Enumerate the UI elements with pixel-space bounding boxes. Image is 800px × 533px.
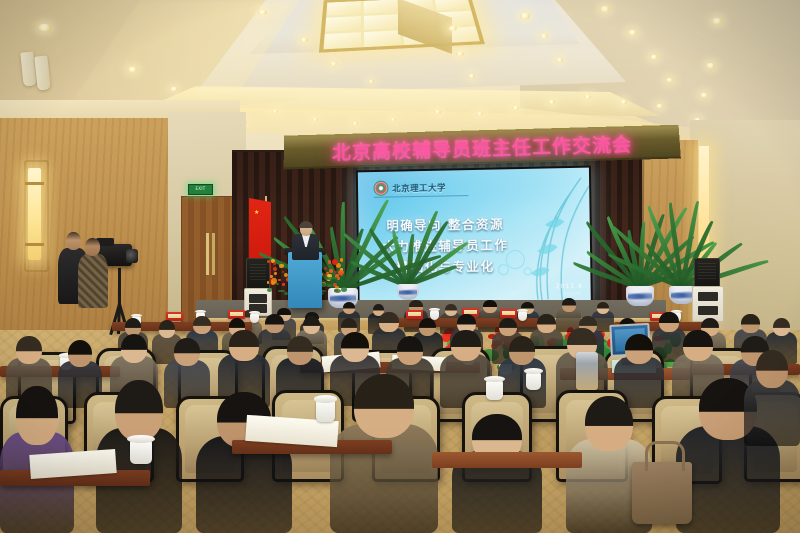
conference-hall-photo: EXIT 北京高校辅导员班主任工作交流会 xyxy=(0,0,800,533)
handbag xyxy=(632,462,692,524)
attendee-head xyxy=(451,330,480,361)
attendee-head xyxy=(16,386,57,445)
bit-emblem-icon xyxy=(374,181,389,196)
attendee-head xyxy=(193,316,211,334)
door-handle xyxy=(212,233,215,275)
flower xyxy=(324,267,327,270)
tea-cup xyxy=(486,380,503,400)
attendee-head xyxy=(174,338,200,366)
name-card-strip xyxy=(408,312,422,316)
attendee-head xyxy=(597,302,609,314)
downlight-icon xyxy=(548,100,555,104)
downlight-icon xyxy=(330,62,337,66)
flower xyxy=(273,267,278,272)
name-card-strip xyxy=(502,311,516,315)
attendee-head xyxy=(773,318,790,336)
flower xyxy=(271,281,275,285)
flower xyxy=(282,283,285,286)
downlight-icon xyxy=(584,95,591,99)
attendee-head xyxy=(509,336,536,365)
potted-palm xyxy=(378,204,438,300)
downlight-icon xyxy=(520,13,530,19)
flower xyxy=(273,262,276,265)
exit-sign: EXIT xyxy=(188,184,213,195)
attendee-head xyxy=(16,336,42,364)
downlight-icon xyxy=(628,30,637,35)
flower xyxy=(278,279,281,282)
porcelain-planter xyxy=(397,284,419,300)
attendee-head xyxy=(121,334,148,363)
attendee-head xyxy=(229,330,258,361)
downlight-icon xyxy=(712,18,722,24)
exit-sign-label: EXIT xyxy=(189,185,212,192)
downlight-icon xyxy=(434,110,441,114)
assistant-body xyxy=(78,254,108,308)
screen-logo: 北京理工大学 xyxy=(374,180,447,196)
flower xyxy=(328,260,332,264)
attendee-head xyxy=(125,318,142,336)
slide-date: 2011.4 BEIJING xyxy=(556,282,583,298)
conference-table-edge xyxy=(432,452,582,468)
attendee-head xyxy=(397,336,424,365)
attendee-head xyxy=(287,336,314,365)
attendee-head xyxy=(625,334,653,364)
attendee-head xyxy=(343,302,355,314)
flower xyxy=(274,272,277,275)
attendee-head xyxy=(562,298,576,312)
organization-name: 北京理工大学 xyxy=(392,181,446,194)
name-card-strip xyxy=(168,314,182,318)
flower xyxy=(334,271,336,273)
downlight-icon xyxy=(666,78,673,82)
tea-cup xyxy=(130,440,152,464)
attendee-head xyxy=(419,318,436,336)
attendee-head xyxy=(115,380,163,441)
tea-cup xyxy=(526,372,541,390)
flower-foliage xyxy=(334,289,341,293)
attendee-head xyxy=(159,320,176,338)
presenter-hair xyxy=(299,221,313,228)
flag-star-icon: ★ xyxy=(254,210,259,216)
attendee-head xyxy=(537,314,555,333)
attendee-head xyxy=(303,316,320,334)
attendee-head xyxy=(659,312,678,332)
downlight-icon xyxy=(706,63,715,68)
downlight-icon xyxy=(512,106,519,110)
door-handle xyxy=(206,233,209,275)
attendee-head xyxy=(756,350,787,388)
downlight-icon xyxy=(556,58,563,62)
tea-cup xyxy=(316,400,335,422)
name-card-strip xyxy=(230,312,244,316)
foreground-attendee xyxy=(744,350,800,446)
flower xyxy=(340,258,343,261)
attendee-head xyxy=(741,314,759,333)
wall-sconce-light xyxy=(28,168,41,260)
thermos-cup xyxy=(576,352,598,390)
podium xyxy=(288,252,322,308)
attendee-head xyxy=(68,340,93,367)
downlight-icon xyxy=(128,67,137,72)
downlight-icon xyxy=(258,10,267,15)
flower-foliage xyxy=(267,288,272,292)
downlight-icon xyxy=(620,100,627,104)
downlight-icon xyxy=(468,74,475,78)
flower xyxy=(267,281,270,284)
attendee-head xyxy=(683,330,712,361)
attendee-head xyxy=(354,374,414,438)
attendee-head xyxy=(585,396,633,451)
assistant-head xyxy=(85,238,100,256)
camera-lens-icon xyxy=(126,249,138,263)
flower xyxy=(329,269,333,273)
attendee-head xyxy=(379,312,398,332)
attendee-head xyxy=(483,300,496,313)
stage-equipment-cabinet xyxy=(692,286,724,322)
flower-foliage xyxy=(276,283,279,285)
attendee-torso xyxy=(744,380,800,446)
flower-foliage xyxy=(278,290,284,293)
downlight-icon xyxy=(656,104,663,108)
foreground-attendee xyxy=(196,392,292,533)
table-name-card xyxy=(500,309,517,318)
downlight-icon xyxy=(600,6,610,12)
downlight-icon xyxy=(476,112,483,116)
flower xyxy=(267,260,270,263)
flower-foliage xyxy=(326,284,332,287)
attendee-head xyxy=(341,332,369,362)
slide-date-value: 2011.4 xyxy=(556,282,583,290)
foreground-attendee xyxy=(452,414,542,533)
flower-foliage xyxy=(284,292,287,295)
flower xyxy=(279,264,283,268)
camera-assistant xyxy=(78,238,108,308)
downlight-icon xyxy=(448,26,457,31)
presenter xyxy=(292,222,319,258)
attendee-head xyxy=(499,318,517,336)
